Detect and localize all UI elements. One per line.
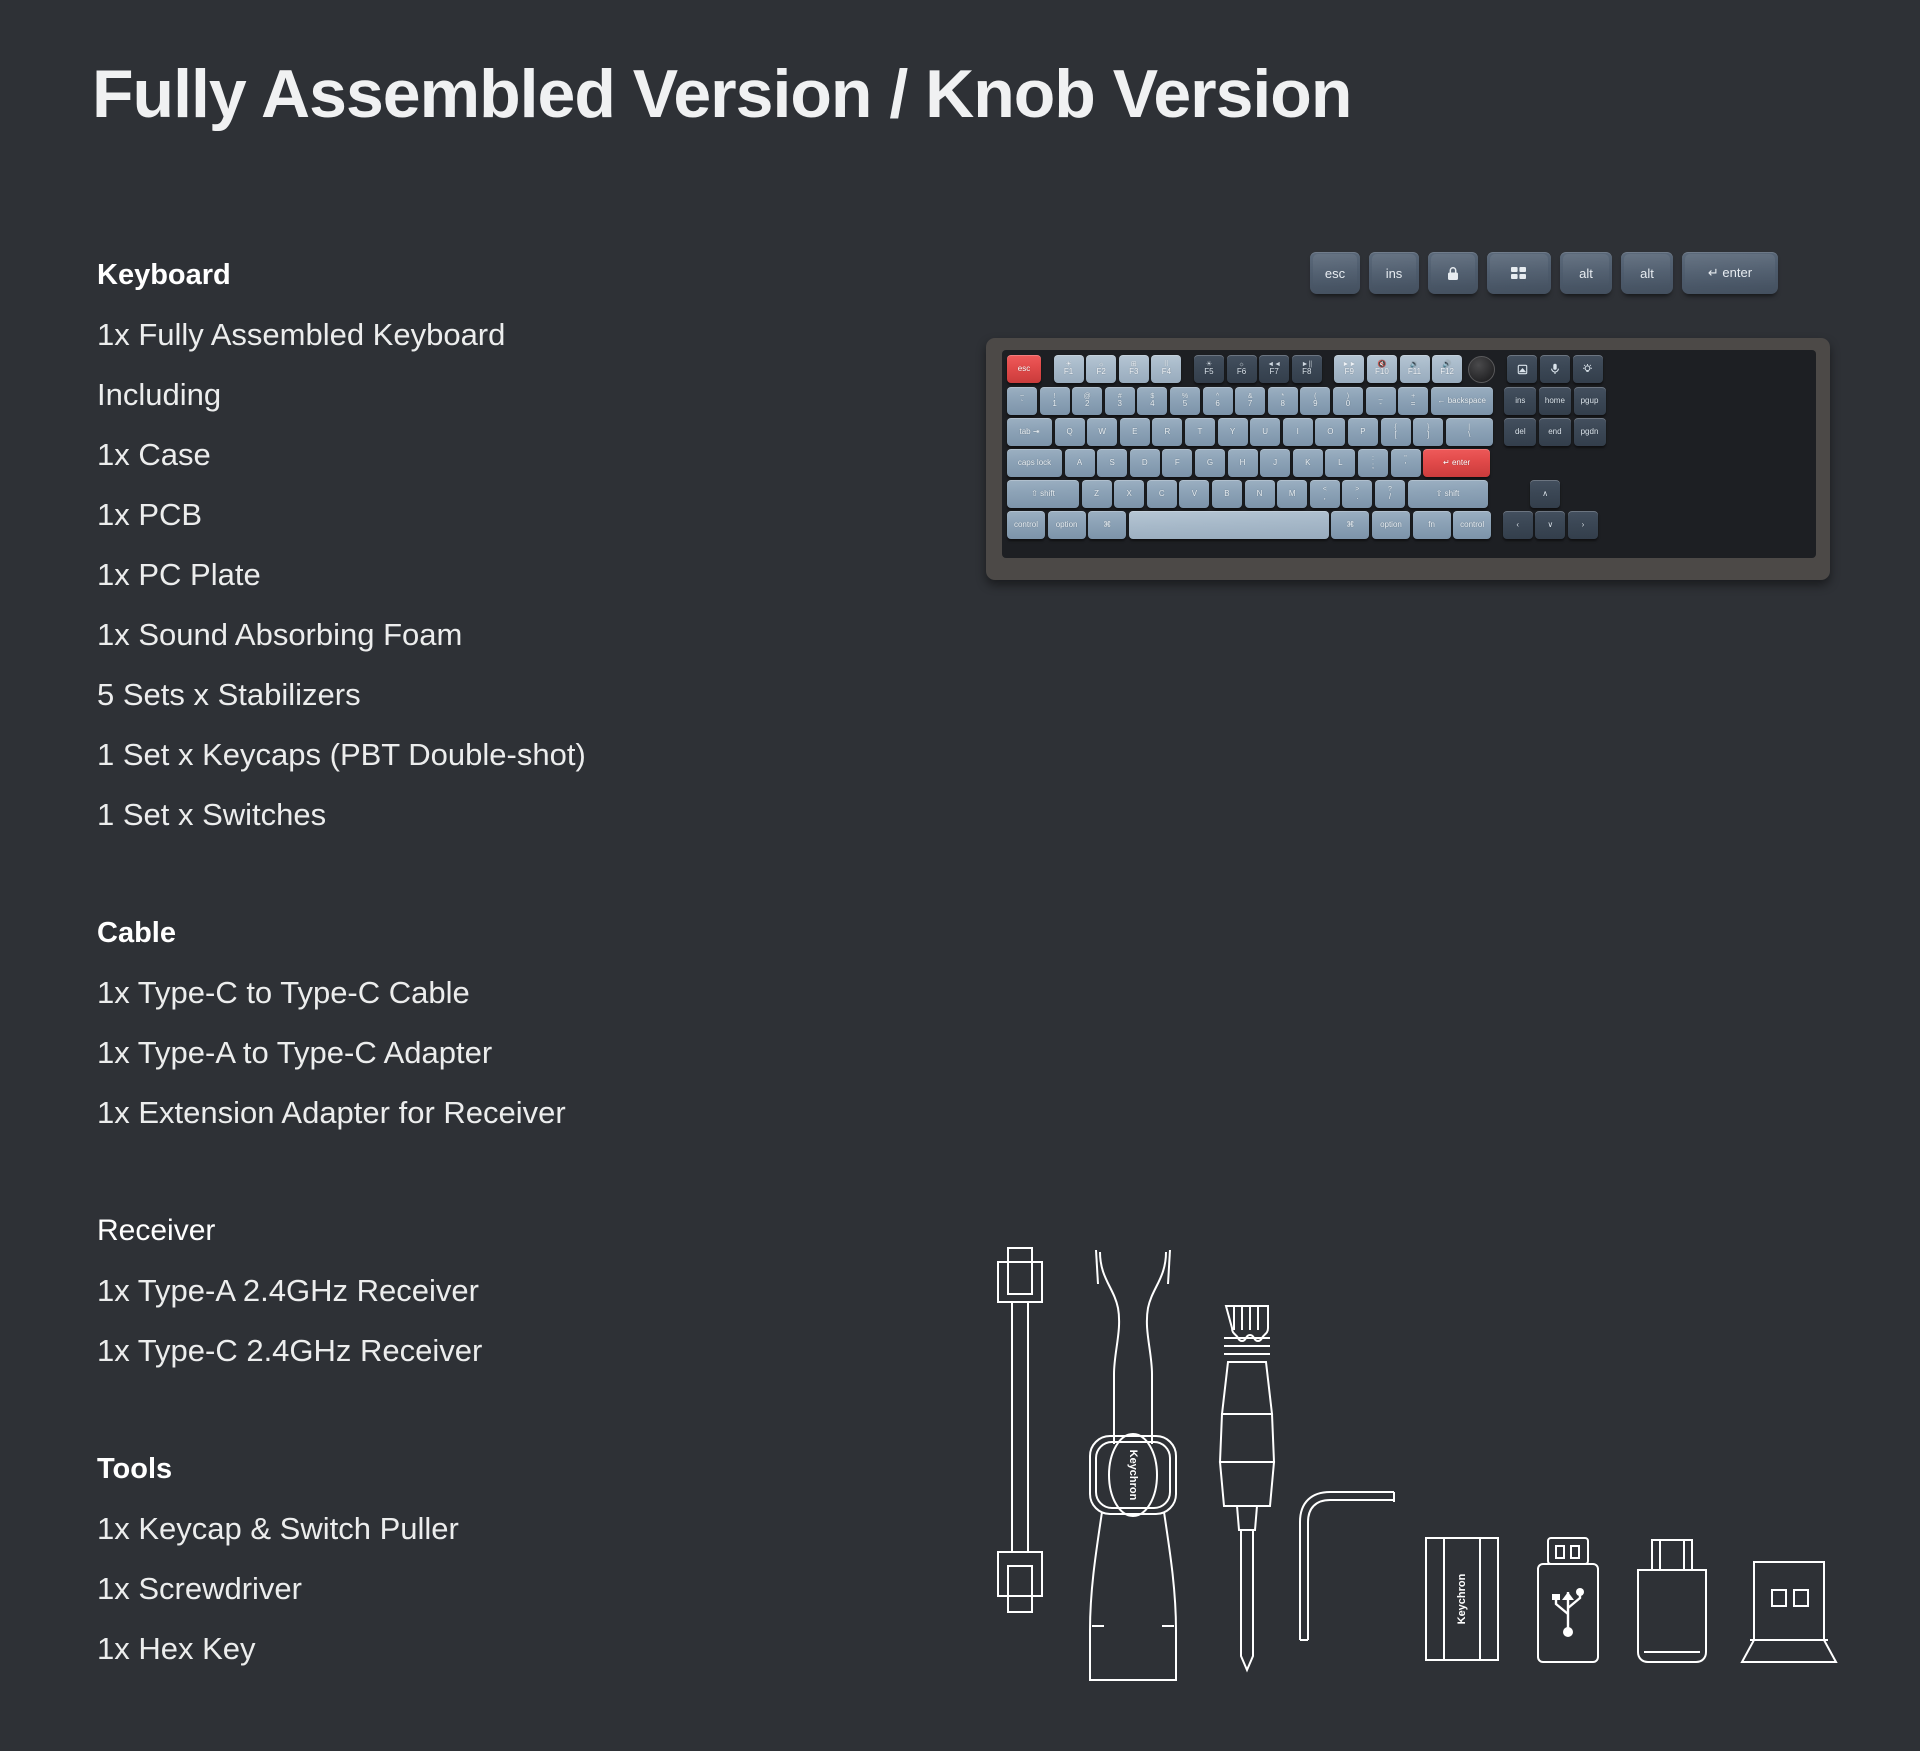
extra-keycap-enter: ↵ enter (1682, 252, 1778, 294)
key-k: K (1293, 449, 1323, 477)
key-microphone (1540, 355, 1570, 383)
key-x: X (1114, 480, 1144, 508)
key-f5: ☀F5 (1194, 355, 1224, 383)
key-arrow-right: › (1568, 511, 1598, 539)
extra-keycap-esc: esc (1310, 252, 1360, 294)
microphone-icon (1550, 363, 1560, 375)
key-f2: ☼F2 (1086, 355, 1116, 383)
key-option-left: option (1048, 511, 1086, 539)
key-9: (9 (1300, 387, 1330, 415)
keyboard-image: esc ☀F1 ☼F2 ⊞F3 ⠿F4 ☀F5 ☼F6 ◄◄F7 ►||F8 ►… (986, 338, 1830, 580)
key-f8: ►||F8 (1292, 355, 1322, 383)
usb-receiver-dongle-illustration (1742, 1562, 1836, 1662)
key-t: T (1185, 418, 1215, 446)
key-f10: 🔇F10 (1367, 355, 1397, 383)
section-tools: Tools 1x Keycap & Switch Puller 1x Screw… (97, 1439, 817, 1679)
key-arrow-left: ‹ (1503, 511, 1533, 539)
key-d: D (1130, 449, 1160, 477)
key-y: Y (1218, 418, 1248, 446)
key-minus: _- (1366, 387, 1396, 415)
rotary-knob[interactable] (1465, 355, 1499, 384)
key-ins: ins (1504, 387, 1536, 415)
key-arrow-up: ∧ (1530, 480, 1560, 508)
key-3: #3 (1105, 387, 1135, 415)
key-o: O (1315, 418, 1345, 446)
puller-brand-label: Keychron (1127, 1450, 1139, 1501)
key-control-left: control (1007, 511, 1045, 539)
key-0: )0 (1333, 387, 1363, 415)
section-spacer (97, 1143, 817, 1201)
key-1: !1 (1040, 387, 1070, 415)
screenshot-icon (1517, 364, 1528, 375)
key-esc: esc (1007, 355, 1041, 383)
keyboard-row-shift: ⇧ shift Z X C V B N M <, >. ?/ ⇧ shift ∧ (1007, 480, 1811, 508)
extra-keycap-alt-right: alt (1621, 252, 1673, 294)
key-f: F (1162, 449, 1192, 477)
key-w: W (1087, 418, 1117, 446)
key-2: @2 (1072, 387, 1102, 415)
list-item: 1x Case (97, 425, 817, 485)
key-c: C (1147, 480, 1177, 508)
key-z: Z (1082, 480, 1112, 508)
key-screenshot (1507, 355, 1537, 383)
list-item: 5 Sets x Stabilizers (97, 665, 817, 725)
key-caps-lock: caps lock (1007, 449, 1062, 477)
key-n: N (1245, 480, 1275, 508)
key-arrow-down: ∨ (1535, 511, 1565, 539)
keyboard-row-function: esc ☀F1 ☼F2 ⊞F3 ⠿F4 ☀F5 ☼F6 ◄◄F7 ►||F8 ►… (1007, 355, 1811, 384)
extra-keycap-ins: ins (1369, 252, 1419, 294)
section-heading-cable: Cable (97, 903, 817, 963)
key-v: V (1179, 480, 1209, 508)
section-receiver: Receiver 1x Type-A 2.4GHz Receiver 1x Ty… (97, 1201, 817, 1381)
key-tab: tab ⇥ (1007, 418, 1052, 446)
key-home: home (1539, 387, 1571, 415)
keyboard-row-home: caps lock A S D F G H J K L :; "' ↵ ente… (1007, 449, 1811, 477)
section-heading-tools: Tools (97, 1439, 817, 1499)
screwdriver-illustration (1220, 1306, 1274, 1670)
list-item: 1x Extension Adapter for Receiver (97, 1083, 817, 1143)
section-heading-receiver: Receiver (97, 1201, 817, 1261)
key-6: ^6 (1203, 387, 1233, 415)
key-command-right: ⌘ (1331, 511, 1369, 539)
list-item: 1x Type-C 2.4GHz Receiver (97, 1321, 817, 1381)
key-u: U (1250, 418, 1280, 446)
key-semicolon: :; (1358, 449, 1388, 477)
key-m: M (1277, 480, 1307, 508)
key-f11: 🔉F11 (1400, 355, 1430, 383)
key-f4: ⠿F4 (1151, 355, 1181, 383)
key-shift-left: ⇧ shift (1007, 480, 1079, 508)
key-i: I (1283, 418, 1313, 446)
key-f9: ►►F9 (1334, 355, 1364, 383)
lock-icon (1445, 265, 1461, 282)
key-backspace: ← backspace (1431, 387, 1493, 415)
list-item: 1x PC Plate (97, 545, 817, 605)
list-item: 1x Hex Key (97, 1619, 817, 1679)
list-item: 1x Keycap & Switch Puller (97, 1499, 817, 1559)
list-item: Including (97, 365, 817, 425)
knob-dial[interactable] (1468, 356, 1495, 383)
key-5: %5 (1170, 387, 1200, 415)
key-s: S (1097, 449, 1127, 477)
list-item: 1x Fully Assembled Keyboard (97, 305, 817, 365)
key-command-left: ⌘ (1088, 511, 1126, 539)
key-pgup: pgup (1574, 387, 1606, 415)
key-enter: ↵ enter (1423, 449, 1490, 477)
key-f12: 🔊F12 (1432, 355, 1462, 383)
key-b: B (1212, 480, 1242, 508)
key-spacebar (1129, 511, 1329, 539)
key-slash: ?/ (1375, 480, 1405, 508)
keyboard-plate: esc ☀F1 ☼F2 ⊞F3 ⠿F4 ☀F5 ☼F6 ◄◄F7 ►||F8 ►… (1002, 350, 1816, 558)
list-item: 1x Type-C to Type-C Cable (97, 963, 817, 1023)
key-bracket-left: {[ (1381, 418, 1411, 446)
list-item: 1x Type-A 2.4GHz Receiver (97, 1261, 817, 1321)
list-item: 1x Sound Absorbing Foam (97, 605, 817, 665)
extra-keycap-lock (1428, 252, 1478, 294)
key-f3: ⊞F3 (1119, 355, 1149, 383)
key-e: E (1120, 418, 1150, 446)
list-item: 1 Set x Switches (97, 785, 817, 845)
keyboard-row-numbers: ~` !1 @2 #3 $4 %5 ^6 &7 *8 (9 )0 _- += ←… (1007, 387, 1811, 415)
keycap-switch-puller-illustration: Keychron (1090, 1250, 1176, 1680)
key-fn: fn (1413, 511, 1451, 539)
key-4: $4 (1137, 387, 1167, 415)
extra-keycap-alt-left: alt (1560, 252, 1612, 294)
key-f7: ◄◄F7 (1259, 355, 1289, 383)
section-cable: Cable 1x Type-C to Type-C Cable 1x Type-… (97, 903, 817, 1143)
list-item: 1x PCB (97, 485, 817, 545)
extra-keycaps-strip: esc ins alt alt ↵ enter (1310, 252, 1778, 294)
usb-icon (1552, 1588, 1584, 1637)
product-contents-page: Fully Assembled Version / Knob Version K… (0, 0, 1920, 1751)
key-del: del (1504, 418, 1536, 446)
key-backlight (1573, 355, 1603, 383)
key-option-right: option (1372, 511, 1410, 539)
key-a: A (1065, 449, 1095, 477)
key-q: Q (1055, 418, 1085, 446)
hex-key-illustration (1300, 1492, 1394, 1640)
key-comma: <, (1310, 480, 1340, 508)
type-c-cable-illustration (998, 1248, 1042, 1612)
list-item: 1 Set x Keycaps (PBT Double-shot) (97, 725, 817, 785)
keyboard-row-bottom: control option ⌘ ⌘ option fn control ‹ ∨… (1007, 511, 1811, 539)
key-quote: "' (1391, 449, 1421, 477)
section-spacer (97, 1381, 817, 1439)
key-period: >. (1342, 480, 1372, 508)
key-r: R (1152, 418, 1182, 446)
key-backtick: ~` (1007, 387, 1037, 415)
usb-a-to-c-adapter-illustration (1538, 1538, 1598, 1662)
extra-keycap-windows (1487, 252, 1551, 294)
type-c-extension-adapter-illustration (1638, 1540, 1706, 1662)
contents-list: Keyboard 1x Fully Assembled Keyboard Inc… (97, 245, 817, 1679)
key-g: G (1195, 449, 1225, 477)
key-8: *8 (1268, 387, 1298, 415)
accessories-illustration: Keychron (960, 1240, 1860, 1700)
key-f1: ☀F1 (1054, 355, 1084, 383)
bulb-icon (1582, 363, 1593, 375)
keyboard-row-tab: tab ⇥ Q W E R T Y U I O P {[ }] |\ del e… (1007, 418, 1811, 446)
key-shift-right: ⇧ shift (1408, 480, 1488, 508)
section-spacer (97, 845, 817, 903)
key-equals: += (1398, 387, 1428, 415)
list-item: 1x Screwdriver (97, 1559, 817, 1619)
keychron-box-illustration: Keychron (1426, 1538, 1498, 1660)
key-bracket-right: }] (1413, 418, 1443, 446)
key-control-right: control (1453, 511, 1491, 539)
key-pgdn: pgdn (1574, 418, 1606, 446)
section-heading-keyboard: Keyboard (97, 245, 817, 305)
key-j: J (1260, 449, 1290, 477)
key-l: L (1325, 449, 1355, 477)
list-item: 1x Type-A to Type-C Adapter (97, 1023, 817, 1083)
key-7: &7 (1235, 387, 1265, 415)
key-backslash: |\ (1446, 418, 1493, 446)
box-brand-label: Keychron (1456, 1573, 1468, 1624)
key-end: end (1539, 418, 1571, 446)
page-title: Fully Assembled Version / Knob Version (92, 55, 1351, 133)
windows-grid-icon (1510, 265, 1528, 281)
key-h: H (1228, 449, 1258, 477)
key-p: P (1348, 418, 1378, 446)
section-keyboard: Keyboard 1x Fully Assembled Keyboard Inc… (97, 245, 817, 845)
key-f6: ☼F6 (1227, 355, 1257, 383)
